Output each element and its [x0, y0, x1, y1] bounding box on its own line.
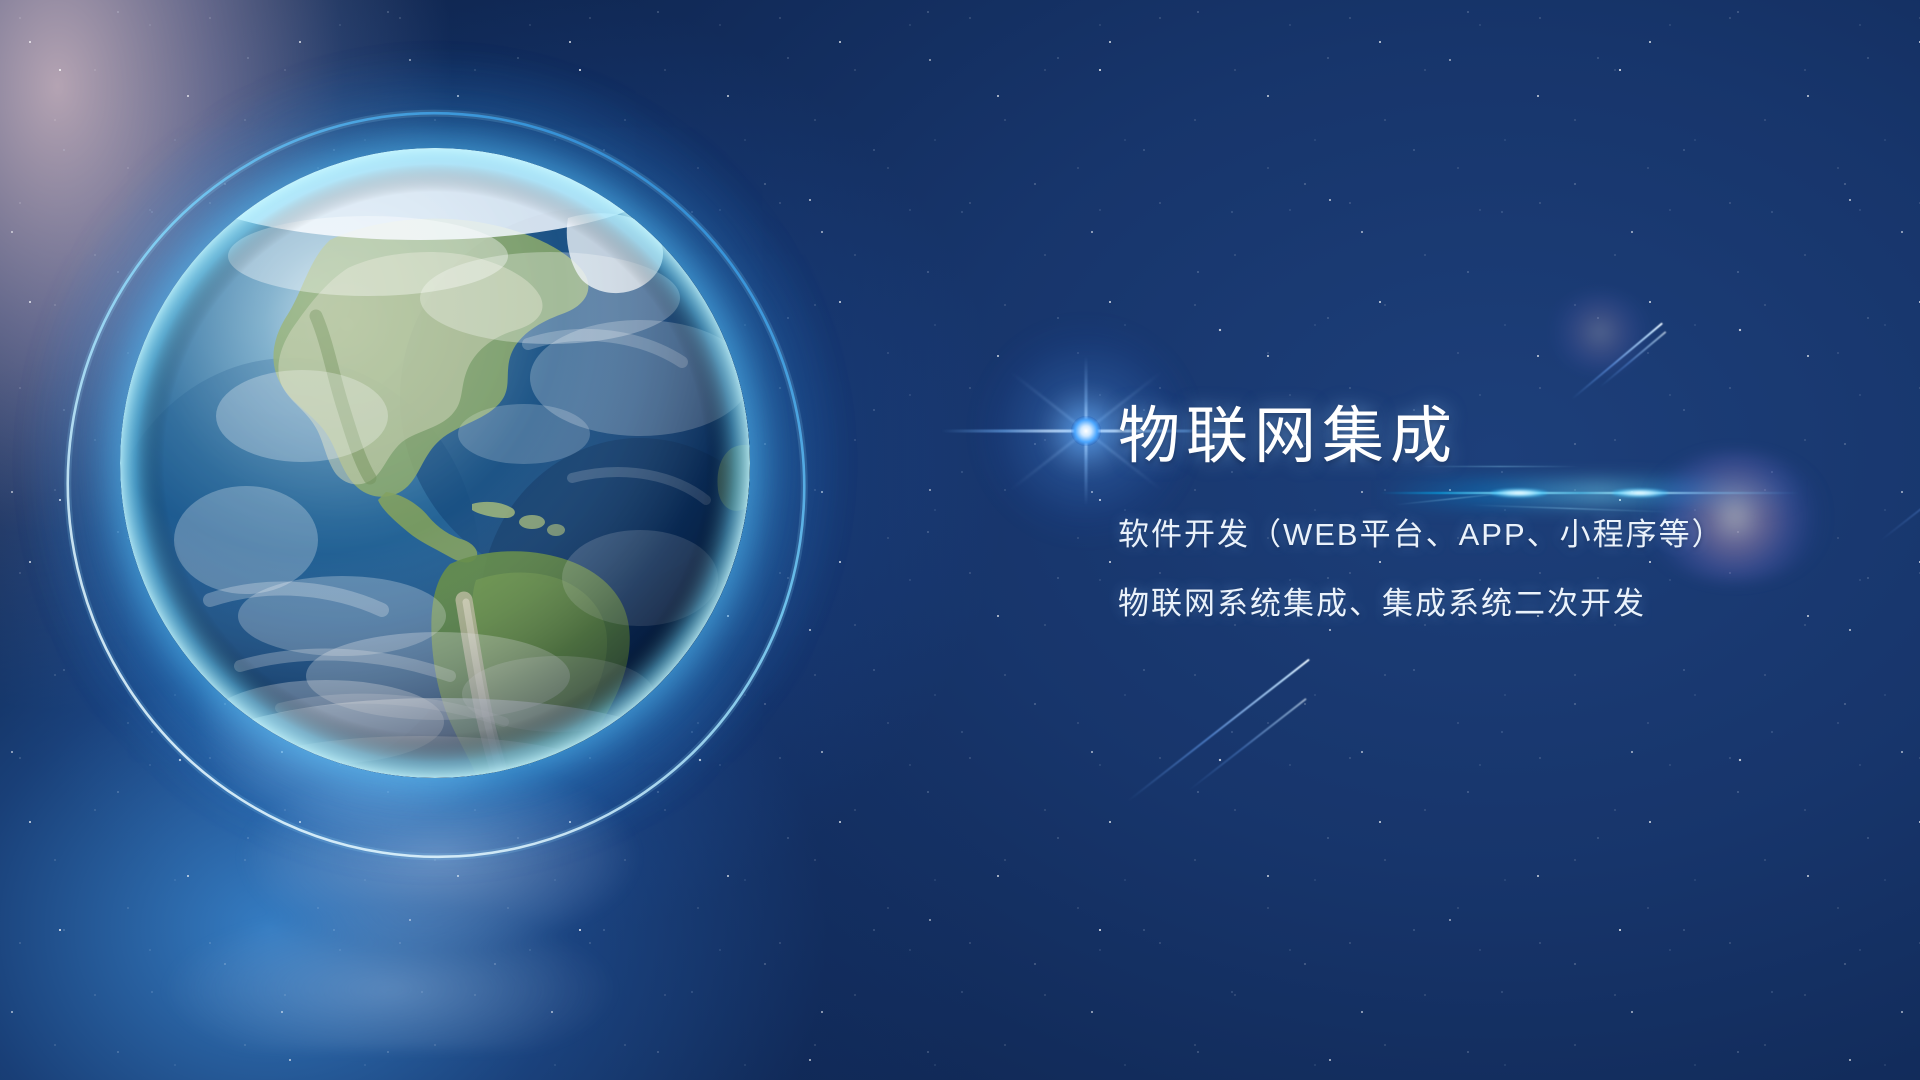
lens-flare — [1085, 430, 1086, 431]
lens-flare-warm-small — [1545, 292, 1655, 372]
lens-flare-core-icon — [1071, 416, 1101, 446]
lens-flare-vertical-streak — [1084, 356, 1087, 506]
shooting-star-3 — [1127, 659, 1309, 802]
page-title: 物联网集成 — [1118, 404, 1818, 471]
shooting-star-1 — [1571, 322, 1663, 399]
earth-globe — [120, 148, 750, 778]
shooting-star-5 — [1879, 466, 1920, 541]
hero-banner: 物联网集成 软件开发（WEB平台、APP、小程序等） 物联网系统集成、集成系统二… — [0, 0, 1920, 1080]
hero-subtitle-1: 软件开发（WEB平台、APP、小程序等） — [1118, 519, 1818, 550]
shooting-star-2 — [1599, 331, 1666, 388]
hero-subtitle-2: 物联网系统集成、集成系统二次开发 — [1118, 588, 1818, 619]
shooting-star-4 — [1187, 698, 1306, 792]
hero-copy: 物联网集成 软件开发（WEB平台、APP、小程序等） 物联网系统集成、集成系统二… — [1118, 404, 1818, 619]
globe-sphere — [120, 148, 750, 778]
